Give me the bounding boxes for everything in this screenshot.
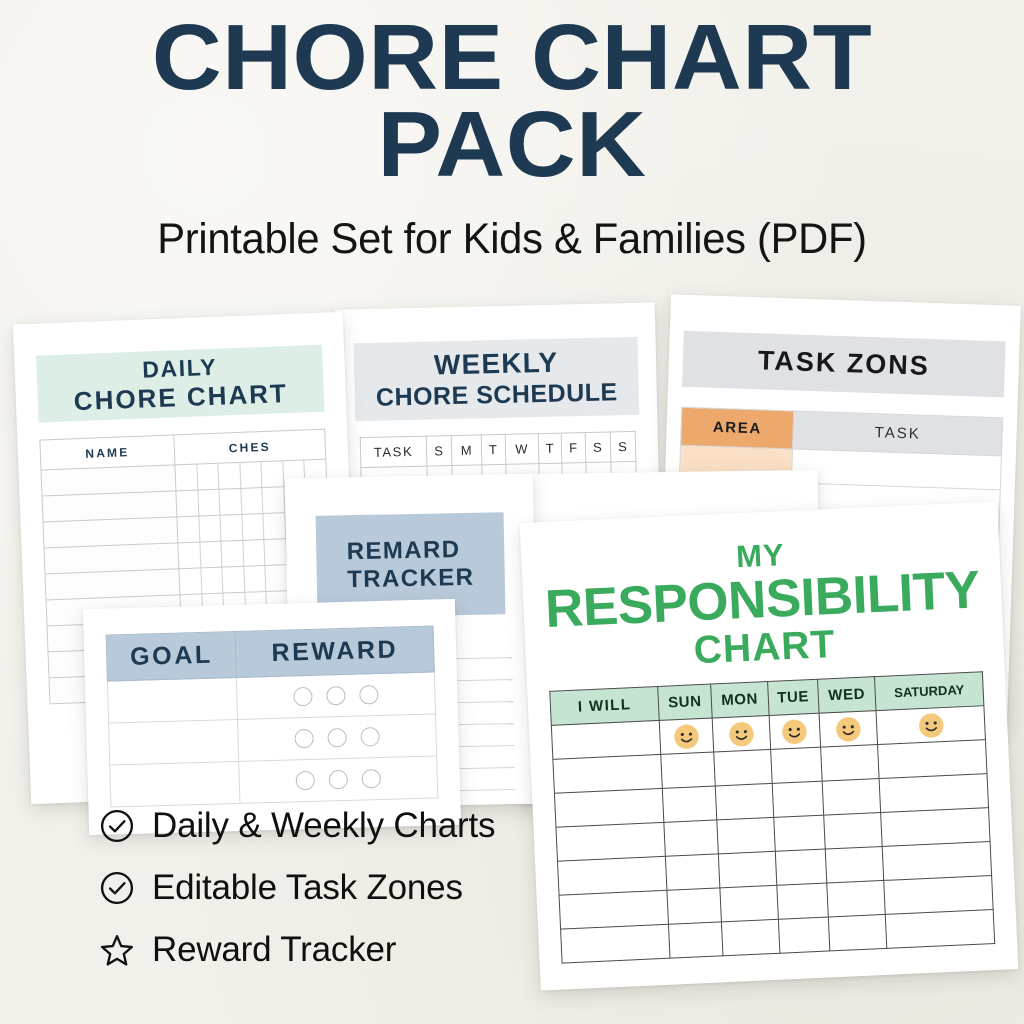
reward-tracker-title: REMARD TRACKER (346, 536, 474, 594)
goal-reward-table: GOAL REWARD (106, 625, 439, 807)
reward-circle-icon[interactable] (296, 771, 316, 791)
goal-reward-card[interactable]: GOAL REWARD (83, 599, 461, 835)
column-header-reward: REWARD (235, 626, 434, 678)
weekly-chart-header-band: WEEKLY CHORE SCHEDULE (354, 337, 640, 421)
task-cell[interactable] (551, 720, 661, 759)
responsibility-chart-card[interactable]: MY RESPONSIBILITY CHART I WILL SUN MON T… (520, 501, 1019, 990)
reward-circles (239, 725, 436, 749)
weekly-title-line-2: CHORE SCHEDULE (376, 378, 618, 412)
column-header-mon: MON (710, 682, 769, 719)
reward-circles (240, 767, 437, 791)
reward-circle-icon[interactable] (329, 770, 349, 790)
daily-chart-header-band: DAILY CHORE CHART (36, 345, 324, 423)
title-line-1: CHORE CHART (0, 14, 1024, 101)
feature-item: Editable Task Zones (100, 868, 495, 908)
smiley-icon (728, 720, 755, 747)
reward-cell[interactable] (237, 672, 436, 720)
column-header-tue: TUE (768, 679, 819, 715)
sticker-cell[interactable] (712, 715, 771, 752)
header: CHORE CHART PACK Printable Set for Kids … (0, 0, 1024, 264)
reward-circle-icon[interactable] (293, 687, 313, 707)
check-circle-icon (100, 871, 134, 905)
feature-item: Daily & Weekly Charts (100, 806, 495, 846)
table-row (110, 756, 438, 807)
column-header-day: M (451, 435, 482, 466)
responsibility-table: I WILL SUN MON TUE WED SATURDAY (549, 671, 995, 963)
star-icon (100, 933, 134, 967)
column-header-day: S (610, 431, 636, 462)
feature-label: Editable Task Zones (152, 868, 463, 908)
goal-cell[interactable] (107, 677, 237, 723)
task-zones-title: TASK ZONS (757, 346, 930, 383)
reward-cell[interactable] (238, 714, 437, 762)
reward-circle-icon[interactable] (295, 729, 315, 749)
page-subtitle: Printable Set for Kids & Families (PDF) (15, 215, 1008, 264)
page-title: CHORE CHART PACK (0, 14, 1024, 189)
title-line-2: PACK (0, 101, 1024, 188)
reward-circle-icon[interactable] (362, 769, 382, 789)
check-circle-icon (100, 809, 134, 843)
feature-list: Daily & Weekly Charts Editable Task Zone… (100, 806, 495, 992)
weekly-chart-title: WEEKLY CHORE SCHEDULE (375, 346, 618, 413)
smiley-icon (835, 715, 862, 742)
column-header-sun: SUN (658, 684, 712, 720)
reward-circle-icon[interactable] (328, 728, 348, 748)
column-header-i-will: I WILL (550, 686, 660, 725)
sticker-cell[interactable] (876, 706, 985, 745)
column-header-goal: GOAL (106, 631, 237, 681)
sticker-cell[interactable] (819, 711, 878, 748)
sticker-cell[interactable] (659, 718, 713, 754)
feature-label: Reward Tracker (152, 930, 396, 970)
feature-label: Daily & Weekly Charts (152, 806, 495, 846)
sticker-cell[interactable] (769, 713, 820, 749)
task-zones-header-band: TASK ZONS (682, 331, 1006, 398)
reward-circle-icon[interactable] (361, 727, 381, 747)
goal-cell[interactable] (109, 719, 239, 765)
column-header-day: S (426, 436, 452, 467)
smiley-icon (917, 712, 944, 739)
daily-chart-title: DAILY CHORE CHART (72, 351, 288, 416)
column-header-day: T (481, 434, 505, 465)
reward-circle-icon[interactable] (359, 685, 379, 705)
responsibility-chart-title: MY RESPONSIBILITY CHART (520, 501, 1005, 678)
reward-circles (238, 683, 435, 707)
weekly-title-line-1: WEEKLY (375, 346, 617, 384)
feature-item: Reward Tracker (100, 930, 495, 970)
column-header-day: S (585, 432, 611, 463)
smiley-icon (781, 718, 808, 745)
reward-title-line-1: REMARD (346, 536, 474, 566)
reward-cell[interactable] (239, 756, 438, 804)
column-header-saturday: SATURDAY (875, 672, 984, 711)
column-header-day: T (538, 433, 562, 464)
goal-cell[interactable] (110, 761, 240, 807)
column-header-task: TASK (360, 436, 427, 467)
column-header-day: W (505, 434, 539, 465)
reward-title-line-2: TRACKER (347, 564, 475, 594)
column-header-wed: WED (817, 677, 876, 714)
smiley-icon (673, 723, 700, 750)
reward-circle-icon[interactable] (326, 686, 346, 706)
column-header-day: F (562, 433, 586, 464)
column-header-area: AREA (681, 407, 795, 449)
